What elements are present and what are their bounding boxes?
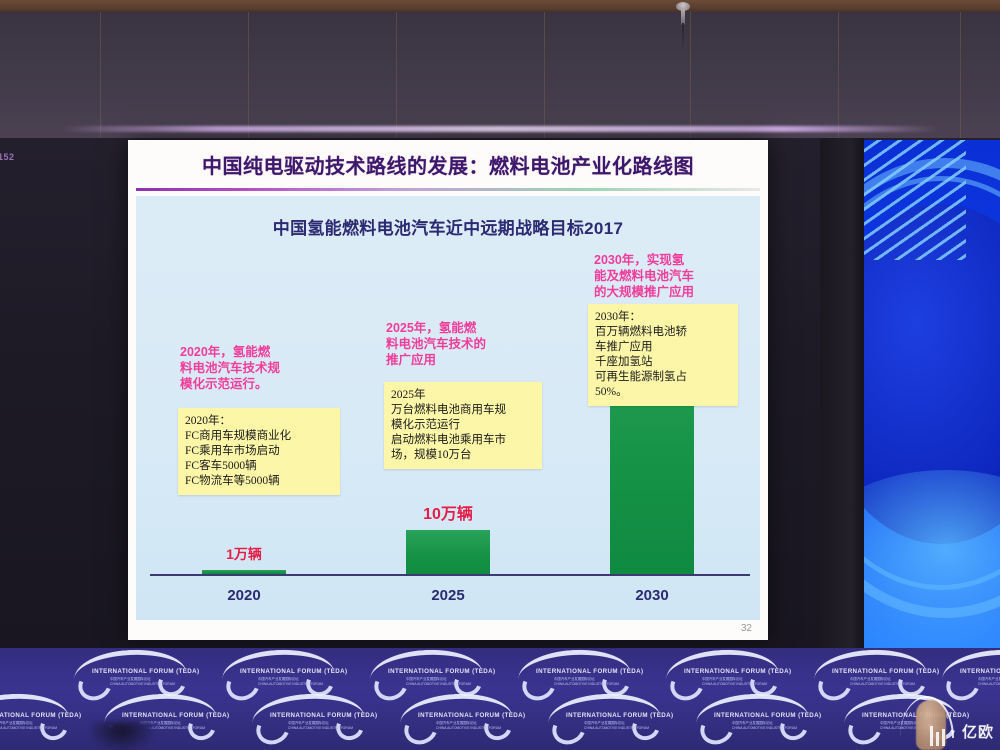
forum-logo-subtext: 中国汽车产业发展国际论坛 CHINA AUTOMOTIVE INDUSTRY F… bbox=[732, 721, 797, 731]
forum-logo-subtext: 中国汽车产业发展国际论坛 CHINA AUTOMOTIVE INDUSTRY F… bbox=[110, 677, 175, 687]
forum-logo: INTERNATIONAL FORUM (TEDA) 中国汽车产业发展国际论坛 … bbox=[654, 650, 804, 696]
forum-logo: INTERNATIONAL FORUM (TEDA) 中国汽车产业发展国际论坛 … bbox=[0, 694, 94, 740]
forum-logo-subtext: 中国汽车产业发展国际论坛 CHINA AUTOMOTIVE INDUSTRY F… bbox=[0, 721, 57, 731]
forum-logo-subtext: 中国汽车产业发展国际论坛 CHINA AUTOMOTIVE INDUSTRY F… bbox=[978, 677, 1000, 687]
forum-logo: INTERNATIONAL FORUM (TEDA) 中国汽车产业发展国际论坛 … bbox=[506, 650, 656, 696]
forum-logo-subtext: 中国汽车产业发展国际论坛 CHINA AUTOMOTIVE INDUSTRY F… bbox=[406, 677, 471, 687]
yiou-watermark: 亿欧 bbox=[896, 696, 996, 748]
forum-logo-text: INTERNATIONAL FORUM (TEDA) bbox=[240, 668, 347, 675]
blue-decor-panel bbox=[856, 140, 1000, 652]
callout-2020: 2020年，氢能燃 料电池汽车技术规 模化示范运行。 bbox=[180, 344, 330, 392]
note-2025: 2025年 万台燃料电池商用车规 模化示范运行 启动燃料电池乘用车市 场，规模1… bbox=[384, 382, 542, 469]
back-wall bbox=[0, 12, 1000, 140]
forum-logo-subtext: 中国汽车产业发展国际论坛 CHINA AUTOMOTIVE INDUSTRY F… bbox=[584, 721, 649, 731]
forum-logo-subtext: 中国汽车产业发展国际论坛 CHINA AUTOMOTIVE INDUSTRY F… bbox=[436, 721, 501, 731]
watermark-text: 亿欧 bbox=[962, 721, 994, 742]
forum-logo-text: INTERNATIONAL FORUM (TEDA) bbox=[388, 668, 495, 675]
decor-stripes bbox=[856, 140, 966, 260]
forum-logo-text: INTERNATIONAL FORUM (TEDA) bbox=[960, 668, 1000, 675]
x-axis-line bbox=[150, 574, 750, 576]
forum-logo: INTERNATIONAL FORUM (TEDA) 中国汽车产业发展国际论坛 … bbox=[536, 694, 686, 740]
forum-logo: INTERNATIONAL FORUM (TEDA) 中国汽车产业发展国际论坛 … bbox=[684, 694, 834, 740]
decor-glow bbox=[856, 470, 1000, 652]
forum-logo-text: INTERNATIONAL FORUM (TEDA) bbox=[714, 712, 821, 719]
forum-logo-text: INTERNATIONAL FORUM (TEDA) bbox=[0, 712, 81, 719]
bar-label-2020: 1万辆 bbox=[192, 544, 296, 564]
forum-logo-subtext: 中国汽车产业发展国际论坛 CHINA AUTOMOTIVE INDUSTRY F… bbox=[702, 677, 767, 687]
stage-pillar bbox=[820, 138, 864, 650]
forum-logo: INTERNATIONAL FORUM (TEDA) 中国汽车产业发展国际论坛 … bbox=[210, 650, 360, 696]
forum-logo-text: INTERNATIONAL FORUM (TEDA) bbox=[418, 712, 525, 719]
forum-logo: INTERNATIONAL FORUM (TEDA) 中国汽车产业发展国际论坛 … bbox=[240, 694, 390, 740]
x-tick-2030: 2030 bbox=[592, 587, 712, 604]
forum-logo: INTERNATIONAL FORUM (TEDA) 中国汽车产业发展国际论坛 … bbox=[930, 650, 1000, 696]
callout-2025: 2025年，氢能燃 料电池汽车技术的 推广应用 bbox=[386, 320, 536, 368]
photo-of-presentation-screen: 152 中国纯电驱动技术路线的发展：燃料电池产业化路线图 中国氢能燃料电池汽车近… bbox=[0, 0, 1000, 750]
watermark-bars-icon bbox=[930, 724, 952, 746]
edge-marker-text: 152 bbox=[0, 152, 24, 164]
bar-label-2025: 10万辆 bbox=[396, 500, 500, 524]
forum-logo-subtext: 中国汽车产业发展国际论坛 CHINA AUTOMOTIVE INDUSTRY F… bbox=[258, 677, 323, 687]
ceiling-sprinkler-icon bbox=[676, 2, 690, 36]
forum-logo-subtext: 中国汽车产业发展国际论坛 CHINA AUTOMOTIVE INDUSTRY F… bbox=[288, 721, 353, 731]
slide-page-number: 32 bbox=[741, 623, 752, 634]
note-2020: 2020年： FC商用车规模商业化 FC乘用车市场启动 FC客车5000辆 FC… bbox=[178, 408, 340, 495]
title-divider bbox=[136, 188, 760, 191]
note-2030: 2030年： 百万辆燃料电池轿 车推广应用 千座加氢站 可再生能源制氢占 50%… bbox=[588, 304, 738, 406]
forum-logo-text: INTERNATIONAL FORUM (TEDA) bbox=[270, 712, 377, 719]
forum-logo-text: INTERNATIONAL FORUM (TEDA) bbox=[536, 668, 643, 675]
forum-logo-text: INTERNATIONAL FORUM (TEDA) bbox=[566, 712, 673, 719]
conference-backdrop: INTERNATIONAL FORUM (TEDA) 中国汽车产业发展国际论坛 … bbox=[0, 648, 1000, 750]
forum-logo-text: INTERNATIONAL FORUM (TEDA) bbox=[684, 668, 791, 675]
forum-logo-text: INTERNATIONAL FORUM (TEDA) bbox=[832, 668, 939, 675]
forum-logo: INTERNATIONAL FORUM (TEDA) 中国汽车产业发展国际论坛 … bbox=[62, 650, 212, 696]
bar-2025 bbox=[406, 530, 490, 574]
callout-2030: 2030年，实现氢 能及燃料电池汽车 的大规模推广应用 bbox=[594, 252, 744, 300]
chart-area: 中国氢能燃料电池汽车近中远期战略目标2017 1万辆 10万辆 100万辆 20… bbox=[136, 196, 760, 620]
forum-logo: INTERNATIONAL FORUM (TEDA) 中国汽车产业发展国际论坛 … bbox=[358, 650, 508, 696]
forum-logo-text: INTERNATIONAL FORUM (TEDA) bbox=[122, 712, 229, 719]
forum-logo-subtext: 中国汽车产业发展国际论坛 CHINA AUTOMOTIVE INDUSTRY F… bbox=[554, 677, 619, 687]
forum-logo-text: INTERNATIONAL FORUM (TEDA) bbox=[92, 668, 199, 675]
forum-logo-subtext: 中国汽车产业发展国际论坛 CHINA AUTOMOTIVE INDUSTRY F… bbox=[850, 677, 915, 687]
slide-title: 中国纯电驱动技术路线的发展：燃料电池产业化路线图 bbox=[128, 150, 768, 179]
purple-led-strip bbox=[60, 126, 940, 132]
projected-slide: 中国纯电驱动技术路线的发展：燃料电池产业化路线图 中国氢能燃料电池汽车近中远期战… bbox=[128, 140, 768, 640]
backdrop-shadow bbox=[92, 722, 152, 750]
forum-logo: INTERNATIONAL FORUM (TEDA) 中国汽车产业发展国际论坛 … bbox=[388, 694, 538, 740]
chart-title: 中国氢能燃料电池汽车近中远期战略目标2017 bbox=[136, 214, 760, 239]
x-tick-2025: 2025 bbox=[388, 587, 508, 604]
x-tick-2020: 2020 bbox=[184, 587, 304, 604]
